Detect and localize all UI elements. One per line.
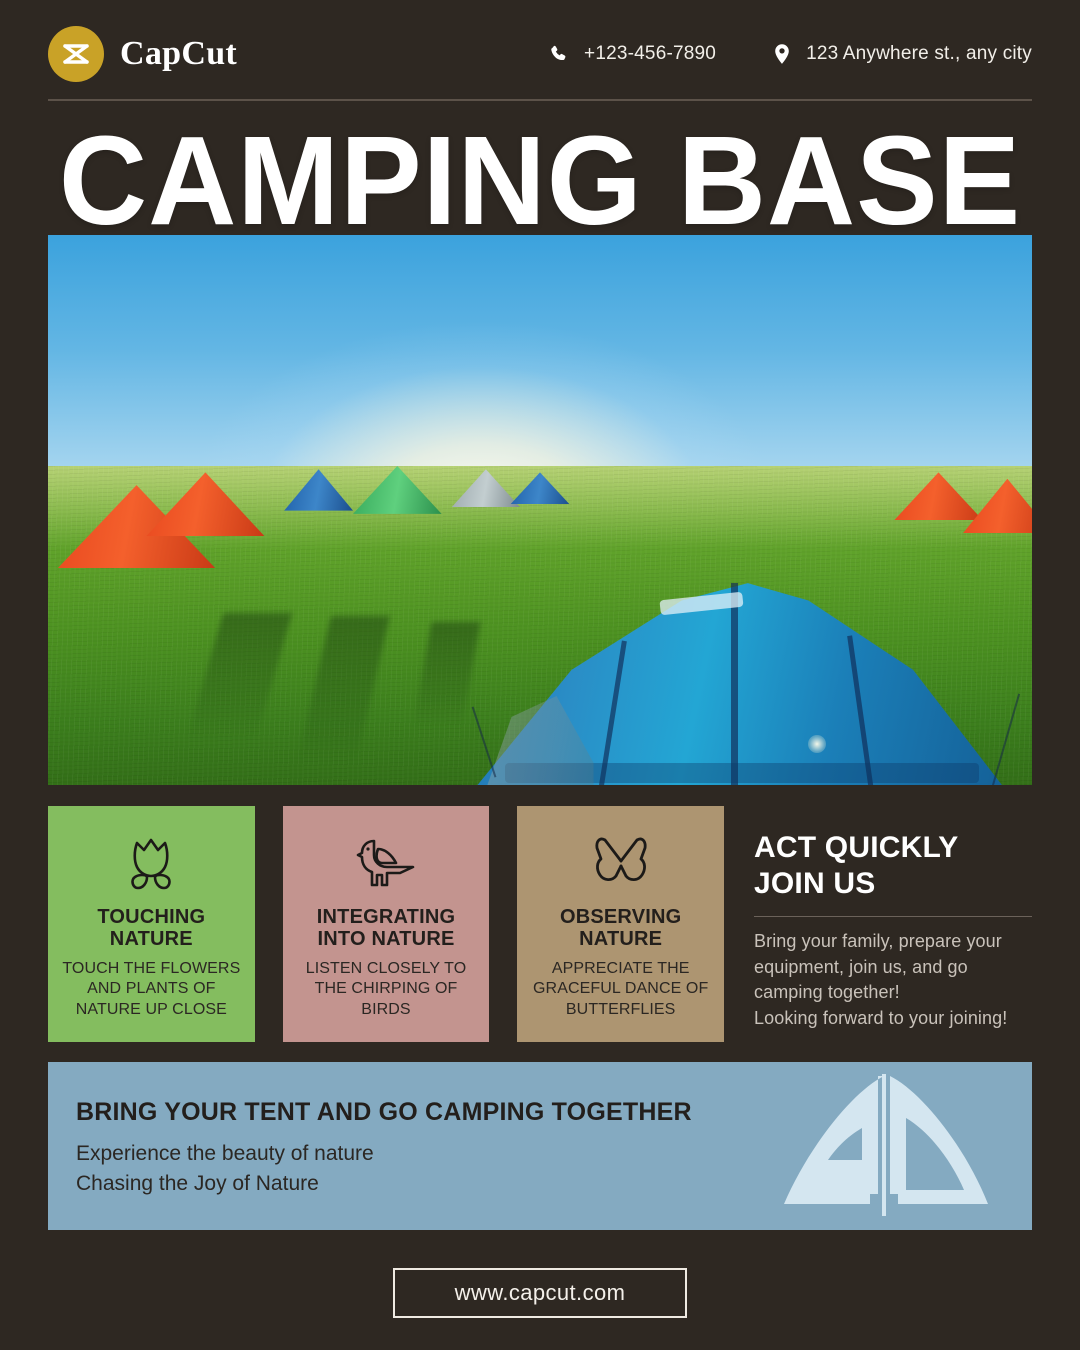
bird-icon xyxy=(356,832,416,894)
feature-card-title: TOUCHING NATURE xyxy=(97,906,205,951)
header-divider xyxy=(48,99,1032,101)
contact-group: +123-456-7890 123 Anywhere st., any city xyxy=(548,43,1032,65)
banner-subtitle-line2: Chasing the Joy of Nature xyxy=(76,1169,816,1199)
capcut-logo-icon xyxy=(48,26,104,82)
cta-body: Bring your family, prepare your equipmen… xyxy=(754,929,1032,1031)
poster-canvas: CapCut +123-456-7890 123 Anywhere xyxy=(0,0,1080,1350)
background-tent xyxy=(963,479,1032,533)
website-button[interactable]: www.capcut.com xyxy=(393,1268,687,1318)
feature-title-line2: NATURE xyxy=(579,928,662,950)
feature-card-description: APPRECIATE THE GRACEFUL DANCE OF BUTTERF… xyxy=(529,959,712,1020)
cta-heading: ACT QUICKLY JOIN US xyxy=(754,830,1032,902)
banner-title: BRING YOUR TENT AND GO CAMPING TOGETHER xyxy=(76,1098,816,1127)
background-tent xyxy=(353,466,442,514)
feature-card-title: OBSERVING NATURE xyxy=(560,906,681,951)
brand-logo[interactable]: CapCut xyxy=(48,26,237,82)
cta-heading-line1: ACT QUICKLY xyxy=(754,831,958,864)
brand-name: CapCut xyxy=(120,35,237,73)
phone-icon xyxy=(548,43,570,65)
tent-seam xyxy=(731,583,738,785)
tent-icon xyxy=(774,1070,998,1220)
feature-card-observing-nature[interactable]: OBSERVING NATURE APPRECIATE THE GRACEFUL… xyxy=(517,806,724,1042)
feature-title-line2: INTO NATURE xyxy=(317,928,454,950)
feature-cards: TOUCHING NATURE TOUCH THE FLOWERS AND PL… xyxy=(48,806,724,1042)
feature-title-line2: NATURE xyxy=(110,928,193,950)
cta-body-line2: Looking forward to your joining! xyxy=(754,1008,1007,1028)
background-tent xyxy=(510,472,569,504)
tulip-flower-icon xyxy=(125,832,177,894)
background-tent xyxy=(146,472,264,536)
banner-text-group: BRING YOUR TENT AND GO CAMPING TOGETHER … xyxy=(76,1098,816,1199)
feature-card-description: TOUCH THE FLOWERS AND PLANTS OF NATURE U… xyxy=(60,959,243,1020)
location-pin-icon xyxy=(772,43,792,65)
address-text: 123 Anywhere st., any city xyxy=(806,43,1032,65)
cta-heading-line2: JOIN US xyxy=(754,867,875,900)
tent-guy-line xyxy=(472,706,497,777)
header-bar: CapCut +123-456-7890 123 Anywhere xyxy=(48,20,1032,88)
feature-card-description: LISTEN CLOSELY TO THE CHIRPING OF BIRDS xyxy=(295,959,478,1020)
cta-divider xyxy=(754,916,1032,917)
cta-banner[interactable]: BRING YOUR TENT AND GO CAMPING TOGETHER … xyxy=(48,1062,1032,1230)
butterfly-icon xyxy=(592,832,650,894)
phone-number: +123-456-7890 xyxy=(584,43,716,65)
contact-phone[interactable]: +123-456-7890 xyxy=(548,43,716,65)
website-url: www.capcut.com xyxy=(455,1280,626,1306)
feature-title-line1: TOUCHING xyxy=(97,906,205,928)
feature-title-line1: INTEGRATING xyxy=(317,906,456,928)
contact-address[interactable]: 123 Anywhere st., any city xyxy=(772,43,1032,65)
feature-card-integrating-into-nature[interactable]: INTEGRATING INTO NATURE LISTEN CLOSELY T… xyxy=(283,806,490,1042)
cta-body-line1: Bring your family, prepare your equipmen… xyxy=(754,931,1002,1002)
background-tent xyxy=(284,469,353,510)
feature-card-touching-nature[interactable]: TOUCHING NATURE TOUCH THE FLOWERS AND PL… xyxy=(48,806,255,1042)
page-title: CAMPING BASE xyxy=(16,118,1064,244)
cta-section: ACT QUICKLY JOIN US Bring your family, p… xyxy=(754,830,1032,1031)
grass-field xyxy=(48,466,1032,785)
hero-photo xyxy=(48,235,1032,785)
feature-title-line1: OBSERVING xyxy=(560,906,681,928)
feature-card-title: INTEGRATING INTO NATURE xyxy=(317,906,456,951)
banner-subtitle-line1: Experience the beauty of nature xyxy=(76,1139,816,1169)
foreground-blue-tent xyxy=(461,574,1012,785)
